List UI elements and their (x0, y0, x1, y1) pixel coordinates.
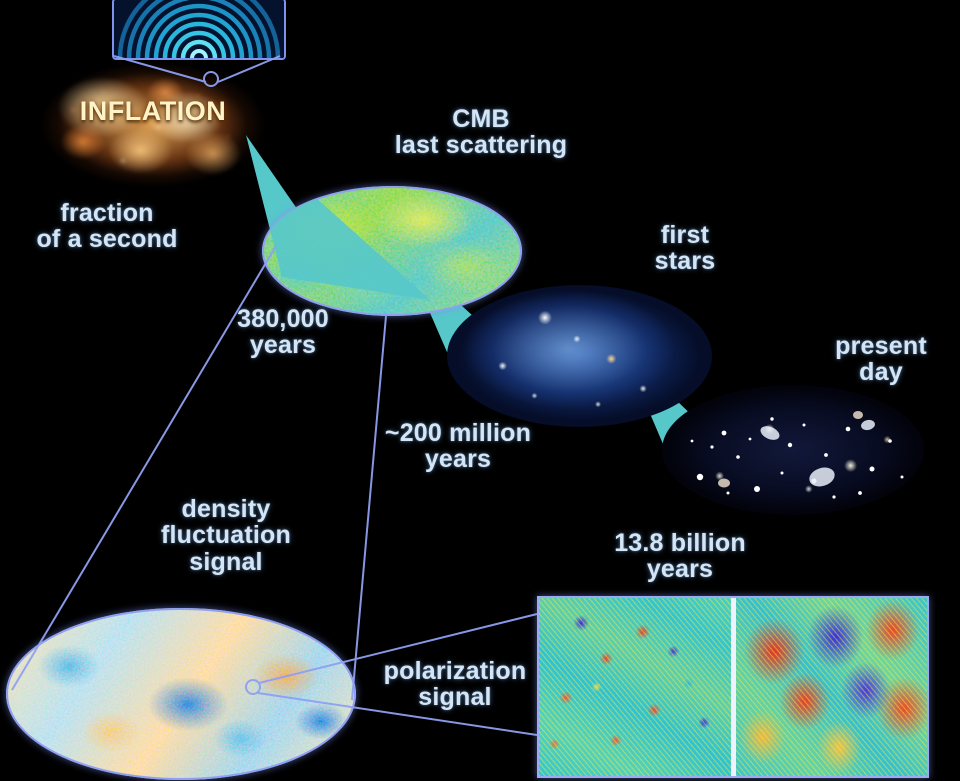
label-fraction-of-a-second: fraction of a second (14, 200, 200, 253)
polarization-panels (537, 596, 929, 778)
label-present-day: present day (806, 333, 956, 386)
gravitational-wave-inset (112, 0, 286, 60)
first-stars-ellipse (447, 285, 712, 427)
label-200-million-years: ~200 million years (358, 420, 558, 473)
polarization-right-hatch (736, 598, 928, 776)
polarization-left-hatch (539, 598, 731, 776)
present-day-galaxies (662, 385, 924, 515)
label-polarization-signal: polarization signal (370, 658, 540, 711)
label-380000-years: 380,000 years (198, 306, 368, 359)
label-cmb-last-scattering: CMB last scattering (366, 106, 596, 159)
polarization-panel-right (736, 598, 928, 776)
label-first-stars: first stars (612, 222, 758, 275)
polarization-panel-left (539, 598, 731, 776)
cosmology-timeline-diagram: INFLATION (0, 0, 960, 781)
label-13-8-billion-years: 13.8 billion years (572, 530, 788, 583)
density-fluctuation-noise (6, 608, 356, 780)
gravitational-wave-arcs-icon (114, 0, 284, 58)
cmb-ellipse (262, 186, 522, 316)
callout-cmb-right (352, 316, 386, 700)
label-density-fluctuation-signal: density fluctuation signal (128, 496, 324, 575)
inflation-label: INFLATION (36, 96, 270, 127)
